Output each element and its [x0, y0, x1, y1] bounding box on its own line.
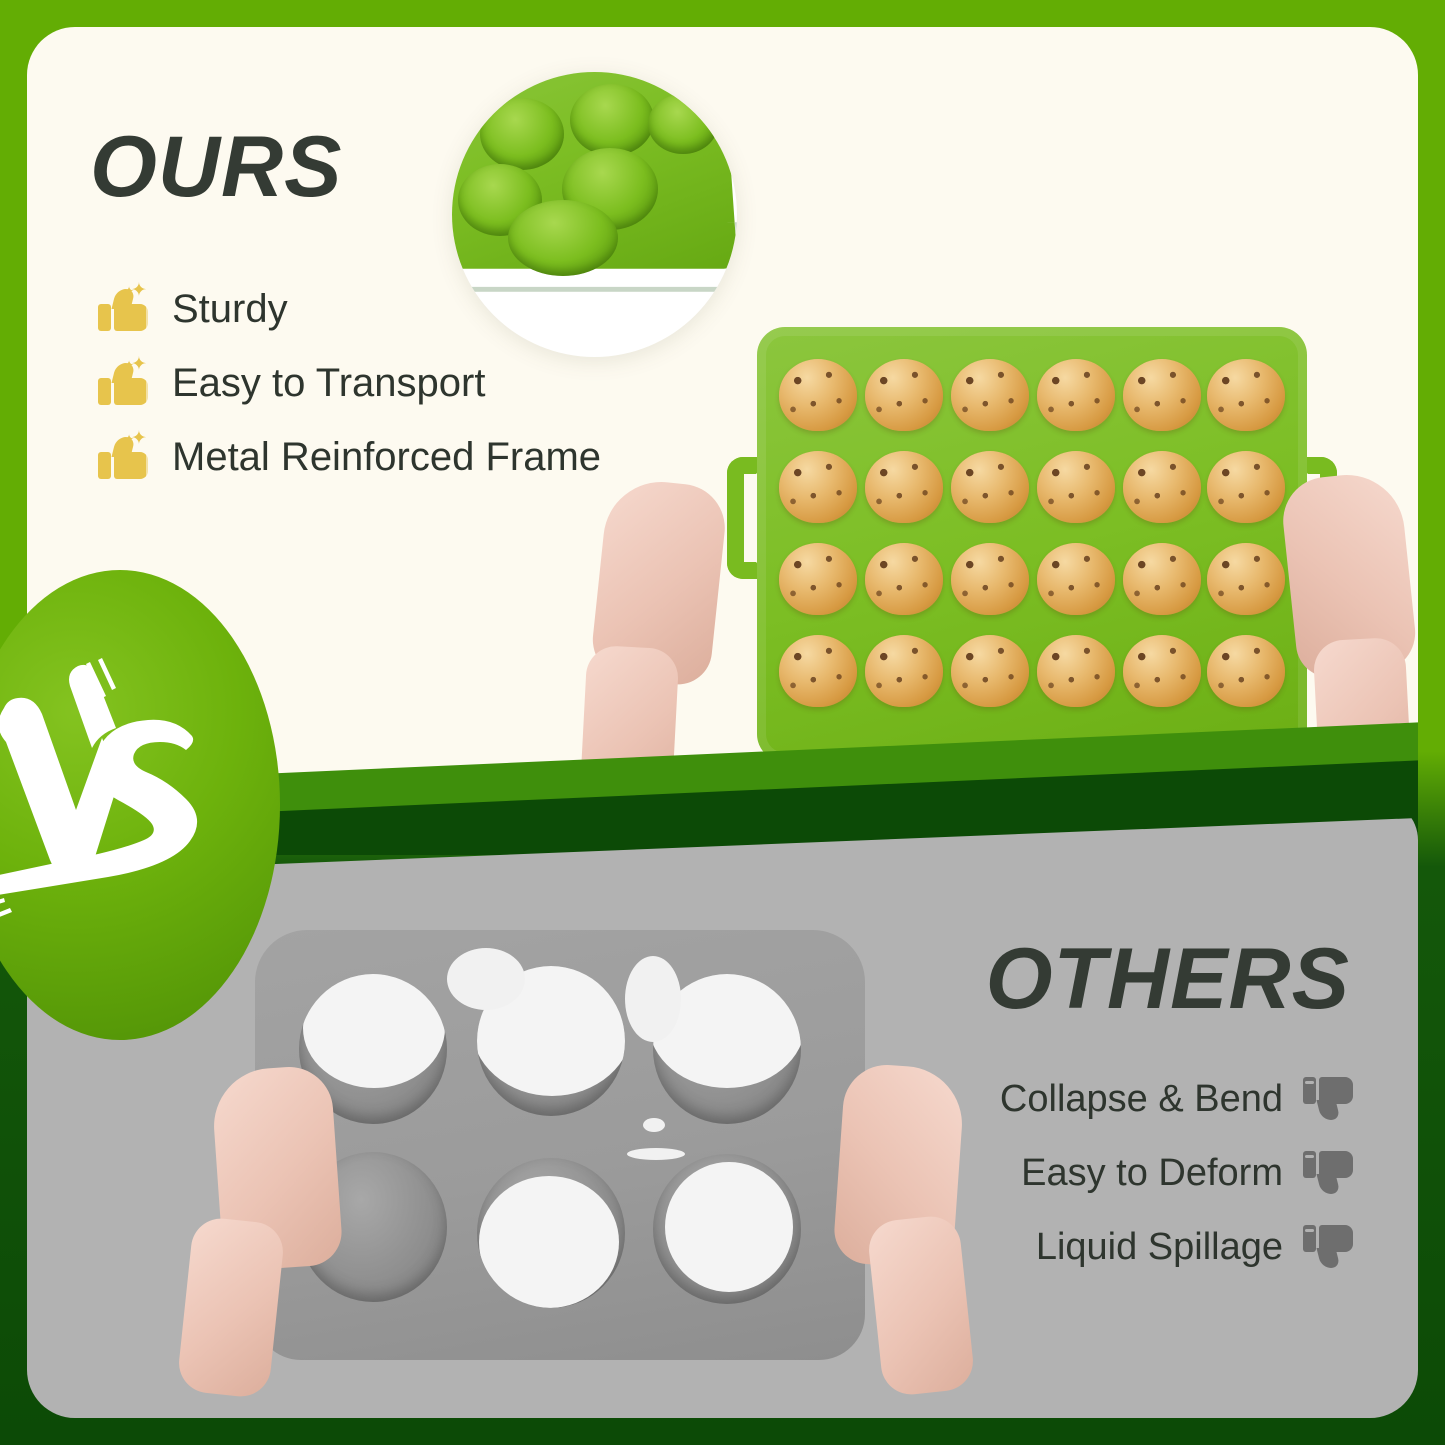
feature-label: Easy to Transport [172, 361, 485, 406]
thumbs-up-icon: ✦ ✦ [98, 431, 150, 483]
gray-silicone-muffin-mold [255, 930, 865, 1360]
thumbs-down-icon [1303, 1147, 1355, 1199]
thumbs-down-icon [1303, 1221, 1355, 1273]
feature-label: Metal Reinforced Frame [172, 435, 601, 480]
spill [447, 948, 525, 1010]
batter [665, 1162, 793, 1292]
vs-brush-mark [0, 570, 280, 1040]
feature-label: Easy to Deform [1021, 1152, 1283, 1195]
ours-heading: OURS [90, 118, 342, 217]
forearm-left [176, 1216, 286, 1400]
ours-feature-list: ✦ ✦ Sturdy ✦ ✦ Easy to Transport ✦ ✦ Met… [98, 272, 601, 494]
batter [303, 974, 445, 1088]
spill [625, 956, 681, 1042]
others-feature-list: Collapse & Bend Easy to Deform Liquid Sp… [1000, 1062, 1355, 1284]
feature-label: Sturdy [172, 287, 288, 332]
thumbs-up-icon: ✦ ✦ [98, 357, 150, 409]
feature-item: Easy to Deform [1000, 1136, 1355, 1210]
tray-plate [757, 327, 1307, 762]
cavity [477, 1158, 625, 1308]
vs-badge [0, 570, 280, 1040]
feature-label: Collapse & Bend [1000, 1078, 1283, 1121]
forearm-right [866, 1214, 976, 1398]
feature-label: Liquid Spillage [1036, 1226, 1283, 1269]
green-silicone-muffin-pan [727, 327, 1337, 762]
feature-item: Liquid Spillage [1000, 1210, 1355, 1284]
spill-droplet [643, 1118, 665, 1132]
feature-item: Collapse & Bend [1000, 1062, 1355, 1136]
others-heading: OTHERS [986, 930, 1350, 1029]
cavity [570, 84, 654, 156]
cavity [653, 1154, 801, 1304]
comparison-infographic: OURS OTHERS ✦ ✦ Sturdy ✦ ✦ Easy to Trans… [0, 0, 1445, 1445]
batter [479, 1176, 619, 1308]
feature-item: ✦ ✦ Easy to Transport [98, 346, 601, 420]
cavity [648, 94, 718, 154]
cavity [480, 98, 564, 170]
thumbs-up-icon: ✦ ✦ [98, 283, 150, 335]
thumbs-down-icon [1303, 1073, 1355, 1125]
mold-body [255, 930, 865, 1360]
spill-streak [627, 1148, 685, 1160]
feature-item: ✦ ✦ Metal Reinforced Frame [98, 420, 601, 494]
feature-item: ✦ ✦ Sturdy [98, 272, 601, 346]
